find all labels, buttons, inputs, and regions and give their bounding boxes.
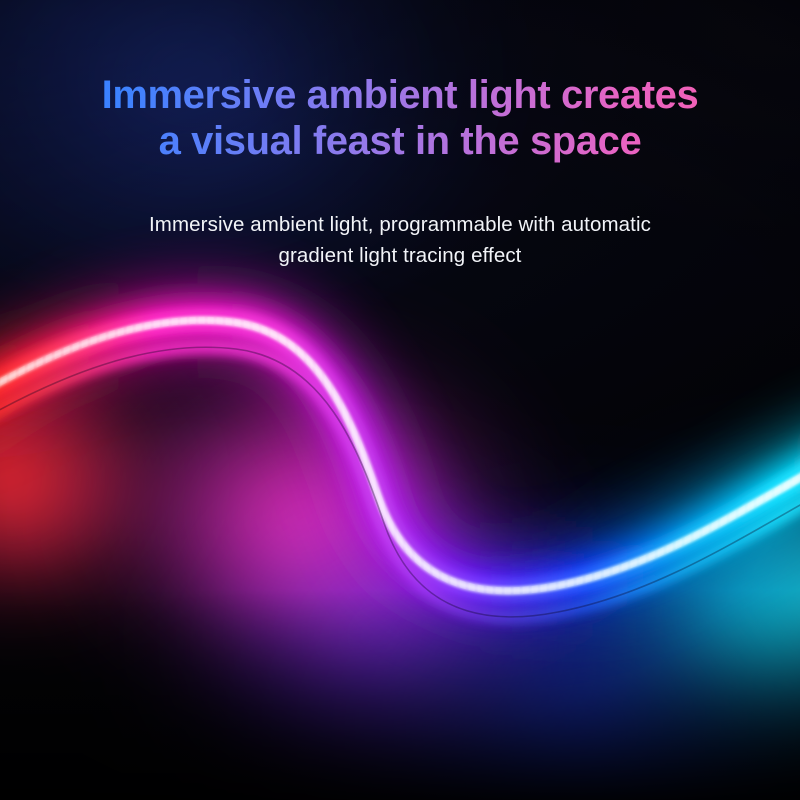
page-subtitle: Immersive ambient light, programmable wi… <box>0 165 800 271</box>
subtitle-line-2: gradient light tracing effect <box>0 240 800 271</box>
promo-banner: Immersive ambient light creates a visual… <box>0 0 800 800</box>
text-block: Immersive ambient light creates a visual… <box>0 0 800 271</box>
headline-line-1: Immersive ambient light creates <box>0 72 800 118</box>
subtitle-line-1: Immersive ambient light, programmable wi… <box>0 209 800 240</box>
headline-line-2: a visual feast in the space <box>0 118 800 164</box>
page-title: Immersive ambient light creates a visual… <box>0 0 800 165</box>
